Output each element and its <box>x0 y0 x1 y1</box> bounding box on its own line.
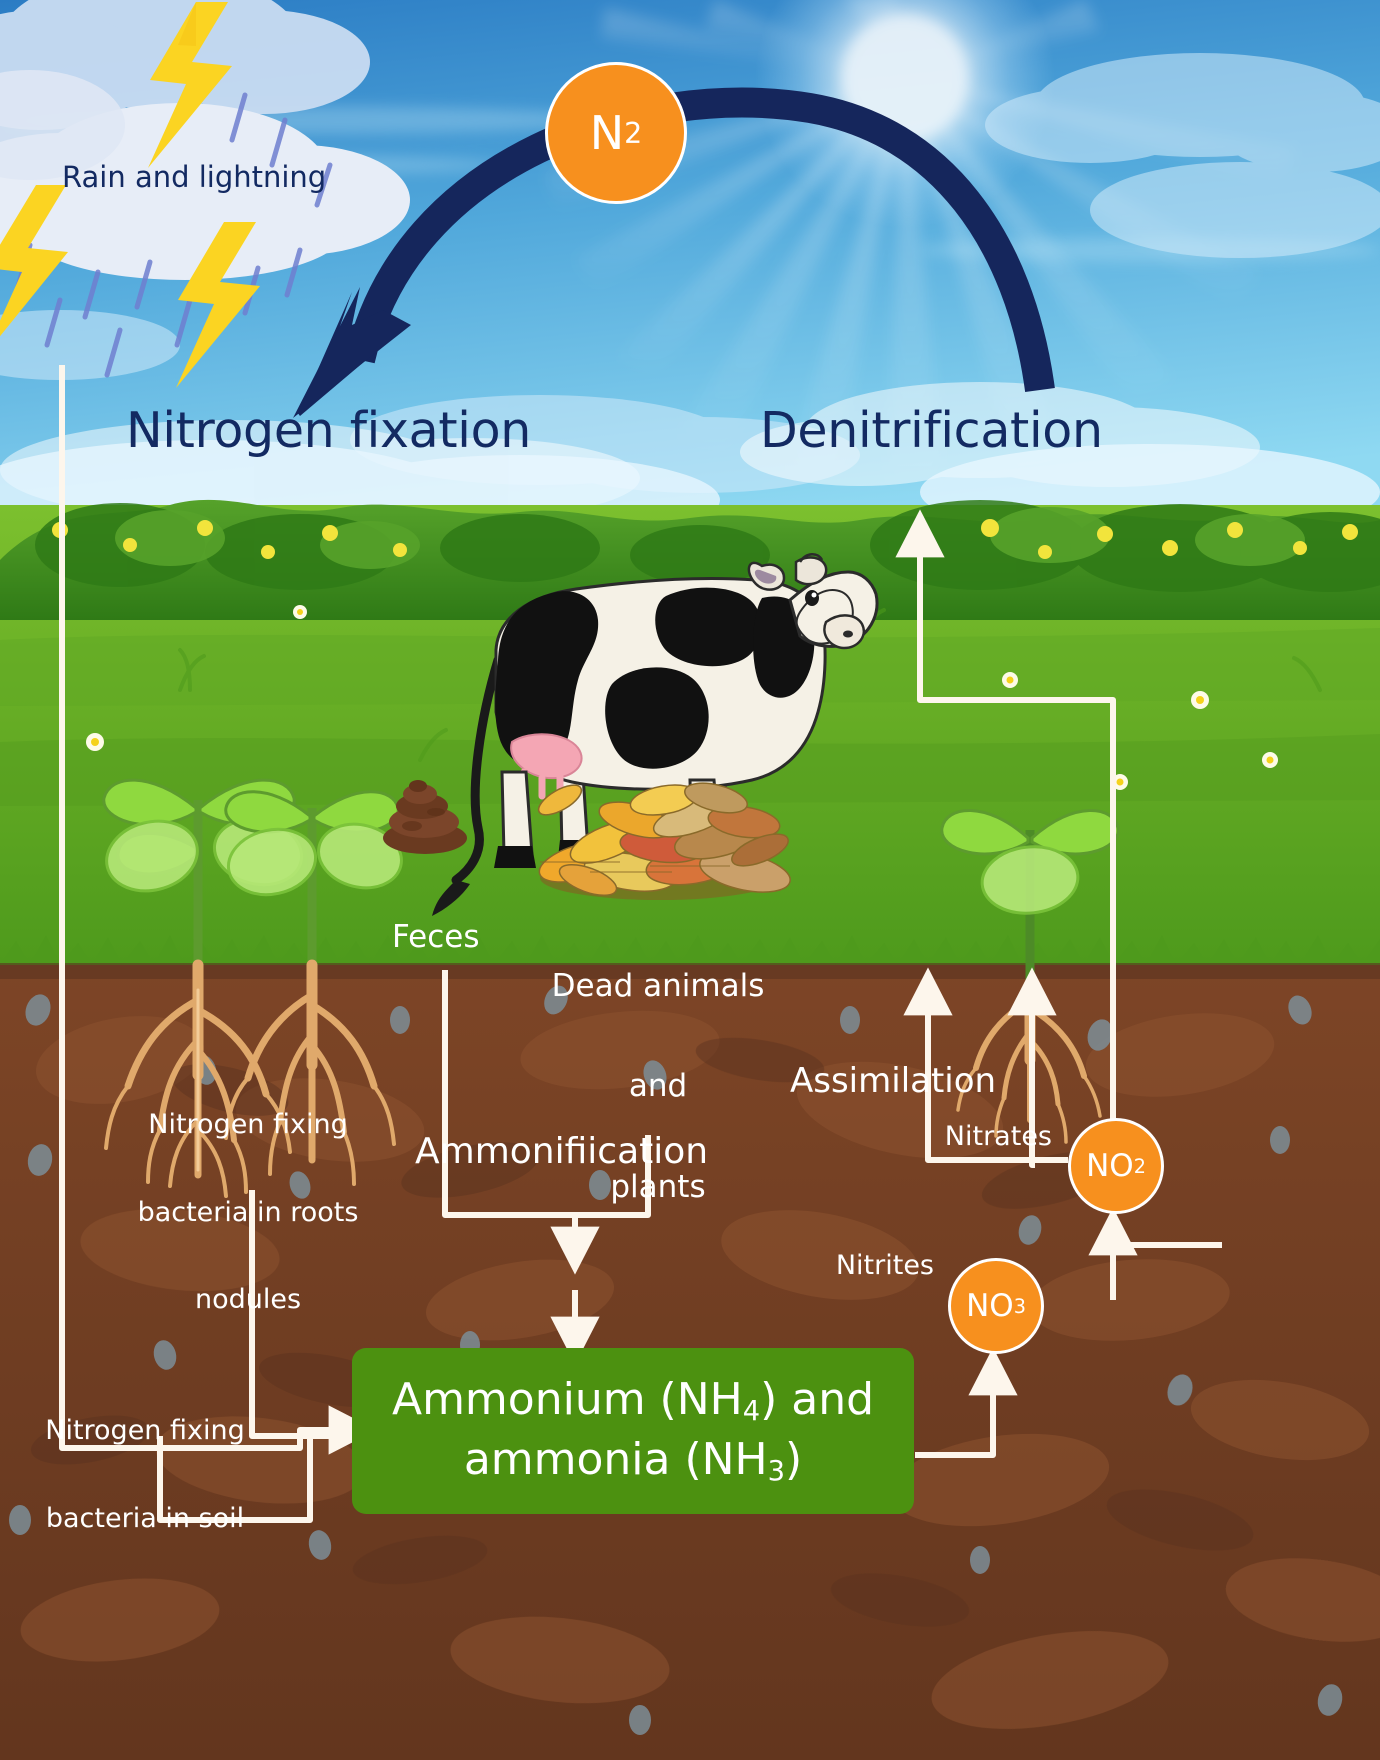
no3-to-no2-arrow <box>1113 1245 1222 1300</box>
n2-chip: N2 <box>545 62 687 204</box>
n2-subscript: 2 <box>624 117 642 150</box>
feces-label: Feces <box>392 921 479 954</box>
box-to-no3-arrow <box>915 1372 993 1455</box>
ammonification-label: Ammonifiication <box>415 1133 708 1172</box>
root-nodule-line-2: bacteria in roots <box>128 1198 368 1227</box>
nitrogen-cycle-diagram: Rain and lightning N2 Nitrogen fixation … <box>0 0 1380 1760</box>
root-nodule-line-1: Nitrogen fixing <box>128 1110 368 1139</box>
root-nodule-bacteria-label: Nitrogen fixing bacteria in roots nodule… <box>128 1052 368 1373</box>
assimilation-label: Assimilation <box>790 1063 996 1100</box>
dead-matter-line-1: Dead animals <box>528 970 788 1003</box>
no3-formula: NO <box>966 1288 1014 1324</box>
ammonium-ammonia-box: Ammonium (NH4) and ammonia (NH3) <box>352 1348 914 1514</box>
no3-subscript: 3 <box>1014 1295 1026 1318</box>
nitrogen-fixation-heading: Nitrogen fixation <box>126 405 531 458</box>
ammonium-line-2: ammonia (NH3) <box>392 1431 874 1491</box>
no2-formula: NO <box>1086 1148 1134 1184</box>
dead-matter-label: Dead animals and plants <box>528 903 788 1271</box>
no2-chip: NO2 <box>1068 1118 1164 1214</box>
ammonium-line-1: Ammonium (NH4) and <box>392 1371 874 1431</box>
root-nodule-line-3: nodules <box>128 1285 368 1314</box>
no3-chip: NO3 <box>948 1258 1044 1354</box>
nitrites-label: Nitrites <box>752 1251 934 1280</box>
dead-matter-line-3: plants <box>528 1171 788 1204</box>
denitrification-heading: Denitrification <box>760 405 1103 458</box>
rain-and-lightning-label: Rain and lightning <box>62 162 326 193</box>
soil-bacteria-line-2: bacteria in soil <box>30 1504 260 1533</box>
nitrates-label: Nitrates <box>852 1122 1052 1151</box>
no2-subscript: 2 <box>1134 1155 1146 1178</box>
soil-bacteria-label: Nitrogen fixing bacteria in soil <box>30 1358 260 1591</box>
dead-matter-line-2: and <box>528 1070 788 1103</box>
n2-formula: N <box>590 106 624 160</box>
soil-bacteria-line-1: Nitrogen fixing <box>30 1416 260 1445</box>
